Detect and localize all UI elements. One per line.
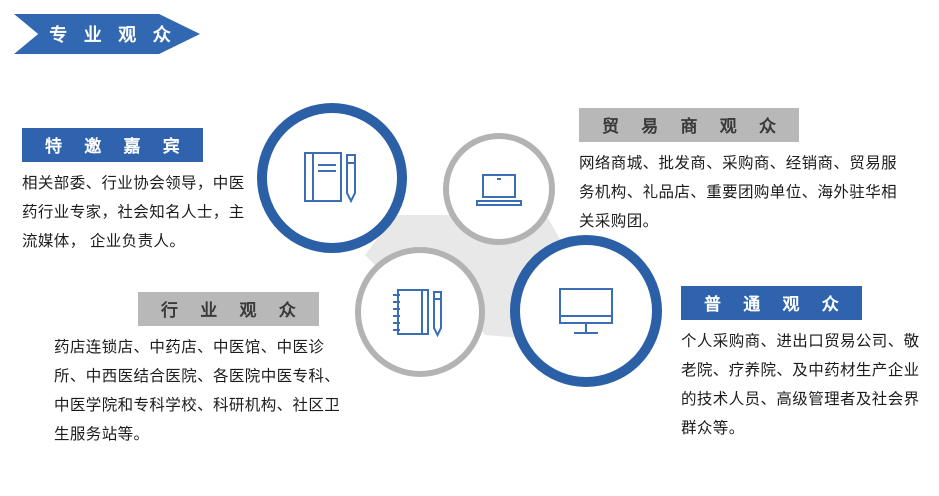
section-heading-public: 普 通 观 众 bbox=[681, 286, 862, 320]
section-heading-industry: 行 业 观 众 bbox=[138, 292, 319, 326]
section-industry: 行 业 观 众 药店连锁店、中药店、中医馆、中医诊所、中西医结合医院、各医院中医… bbox=[54, 292, 344, 449]
page-title: 专 业 观 众 bbox=[14, 14, 200, 54]
spiral-notebook-pen-icon bbox=[388, 280, 452, 344]
circle-node-industry bbox=[355, 247, 485, 377]
section-heading-trade: 贸 易 商 观 众 bbox=[579, 108, 799, 142]
laptop-icon bbox=[471, 161, 527, 217]
section-body-guest: 相关部委、行业协会领导，中医药行业专家，社会知名人士，主流媒体， 企业负责人。 bbox=[22, 169, 257, 256]
circle-node-guest bbox=[257, 103, 407, 253]
section-heading-guest: 特 邀 嘉 宾 bbox=[22, 128, 203, 162]
section-public: 普 通 观 众 个人采购商、进出口贸易公司、敬老院、疗养院、及中药材生产企业的技… bbox=[681, 286, 921, 443]
section-trade: 贸 易 商 观 众 网络商城、批发商、采购商、经销商、贸易服务机构、礼品店、重要… bbox=[579, 108, 899, 236]
circle-node-public bbox=[510, 235, 662, 387]
section-guest: 特 邀 嘉 宾 相关部委、行业协会领导，中医药行业专家，社会知名人士，主流媒体，… bbox=[22, 128, 257, 256]
section-body-public: 个人采购商、进出口贸易公司、敬老院、疗养院、及中药材生产企业的技术人员、高级管理… bbox=[681, 327, 921, 443]
circle-node-trade bbox=[443, 133, 555, 245]
page-title-banner: 专 业 观 众 bbox=[14, 14, 200, 54]
section-body-trade: 网络商城、批发商、采购商、经销商、贸易服务机构、礼品店、重要团购单位、海外驻华相… bbox=[579, 149, 899, 236]
desktop-monitor-icon bbox=[550, 275, 622, 347]
section-body-industry: 药店连锁店、中药店、中医馆、中医诊所、中西医结合医院、各医院中医专科、中医学院和… bbox=[54, 333, 344, 449]
notebook-pen-icon bbox=[297, 143, 367, 213]
